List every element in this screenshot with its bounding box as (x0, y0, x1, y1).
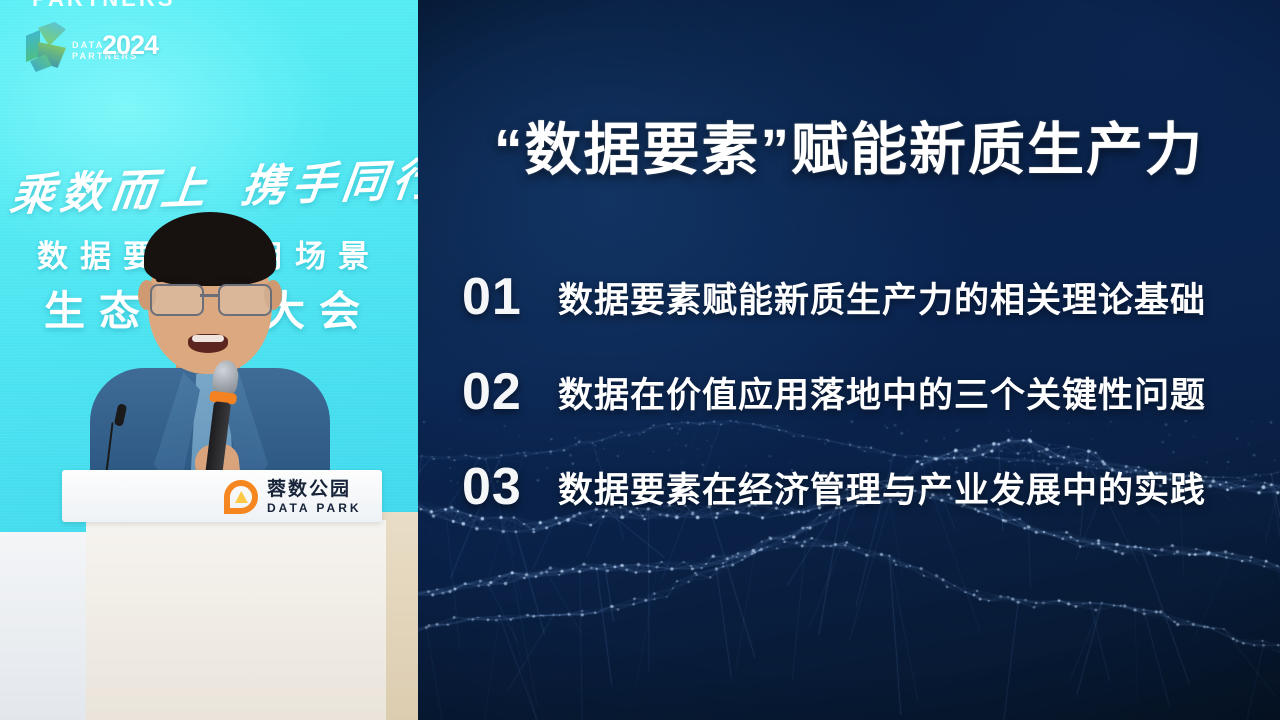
agenda-text-02: 数据在价值应用落地中的三个关键性问题 (558, 367, 1206, 418)
agenda-list: 01 数据要素赋能新质生产力的相关理论基础 02 数据在价值应用落地中的三个关键… (462, 262, 1280, 547)
data-park-logo-en: DATA PARK (267, 502, 362, 514)
agenda-number-01: 01 (462, 271, 558, 323)
podium: 蓉数公园 DATA PARK (0, 470, 418, 720)
speaker-video-panel: 乘数而上 携手同行 数据要素应用场景 生态伙伴大会 PARTNERS DATA … (0, 0, 418, 720)
agenda-text-01: 数据要素赋能新质生产力的相关理论基础 (558, 272, 1206, 323)
data-park-p-icon (224, 480, 258, 514)
agenda-text-03: 数据要素在经济管理与产业发展中的实践 (558, 462, 1206, 513)
podium-front-panel: 蓉数公园 DATA PARK (62, 470, 382, 522)
speaker-hair (144, 212, 276, 286)
event-logo: PARTNERS DATA PARTNERS 2024 (14, 0, 194, 78)
agenda-number-02: 02 (462, 366, 558, 418)
agenda-item-02: 02 数据在价值应用落地中的三个关键性问题 (462, 357, 1280, 427)
speaker-mouth (188, 334, 228, 353)
data-partners-cube-icon (26, 22, 68, 70)
slide-title: “数据要素”赋能新质生产力 (418, 104, 1280, 186)
data-park-logo-cn: 蓉数公园 (267, 480, 362, 499)
event-logo-year: 2024 (102, 30, 158, 61)
data-park-logo: 蓉数公园 DATA PARK (224, 480, 362, 514)
agenda-number-03: 03 (462, 461, 558, 513)
presentation-slide: “数据要素”赋能新质生产力 01 数据要素赋能新质生产力的相关理论基础 02 数… (418, 0, 1280, 720)
podium-left-wall (0, 532, 90, 720)
podium-body (86, 520, 386, 720)
event-logo-top-text: PARTNERS (32, 0, 175, 12)
agenda-item-03: 03 数据要素在经济管理与产业发展中的实践 (462, 452, 1280, 522)
agenda-item-01: 01 数据要素赋能新质生产力的相关理论基础 (462, 262, 1280, 332)
backdrop-calligraphy-right: 携手同行 (238, 143, 418, 215)
presentation-screenshot: 乘数而上 携手同行 数据要素应用场景 生态伙伴大会 PARTNERS DATA … (0, 0, 1280, 720)
speaker-glasses-icon (150, 284, 270, 314)
